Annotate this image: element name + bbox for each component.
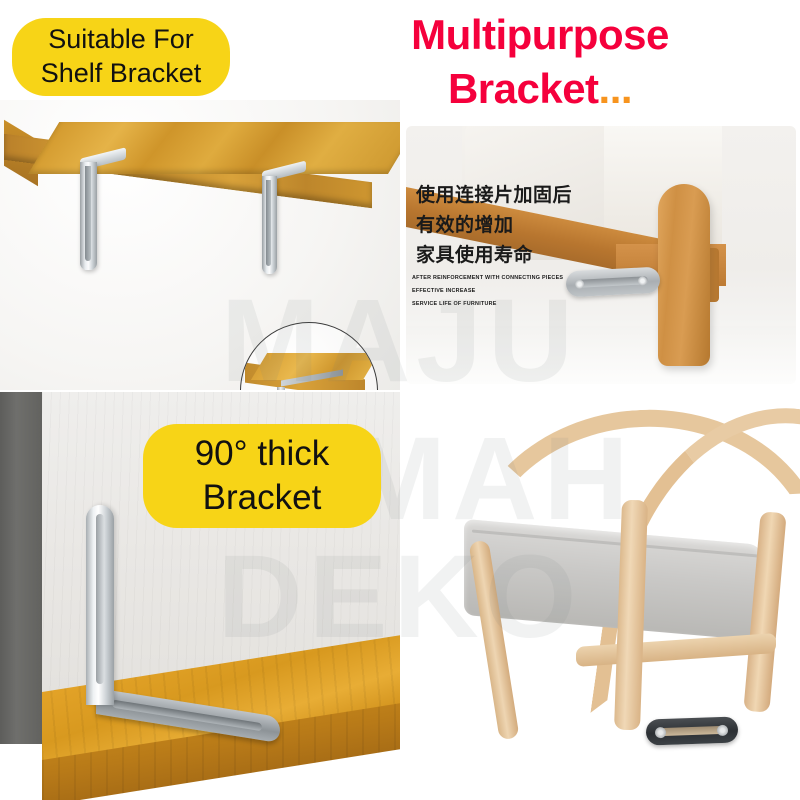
page-title-line-1: Multipurpose: [330, 8, 750, 62]
page-title-line-2-text: Bracket: [448, 65, 599, 112]
bracket-1-slot: [85, 166, 91, 261]
badge-90-degree-thick-bracket: 90° thick Bracket: [143, 424, 381, 528]
chinese-caption: 使用连接片加固后 有效的增加 家具使用寿命: [416, 181, 572, 271]
dark-connecting-plate: [646, 716, 739, 745]
watermark-line-1: MAJU: [0, 282, 800, 400]
page-title: Multipurpose Bracket...: [330, 8, 750, 116]
dark-plate-screw-left: [655, 727, 666, 738]
watermark-line-2: RUMAH DEKO: [0, 420, 800, 656]
bracket-2-slot: [266, 180, 271, 266]
dark-plate-screw-right: [717, 725, 728, 736]
badge-suitable-for-shelf-bracket: Suitable For Shelf Bracket: [12, 18, 230, 96]
product-collage: MAJU RUMAH DEKO: [0, 0, 800, 800]
page-title-ellipsis: ...: [599, 65, 633, 112]
page-title-line-2: Bracket...: [330, 62, 750, 116]
dark-plate-groove: [660, 726, 724, 736]
